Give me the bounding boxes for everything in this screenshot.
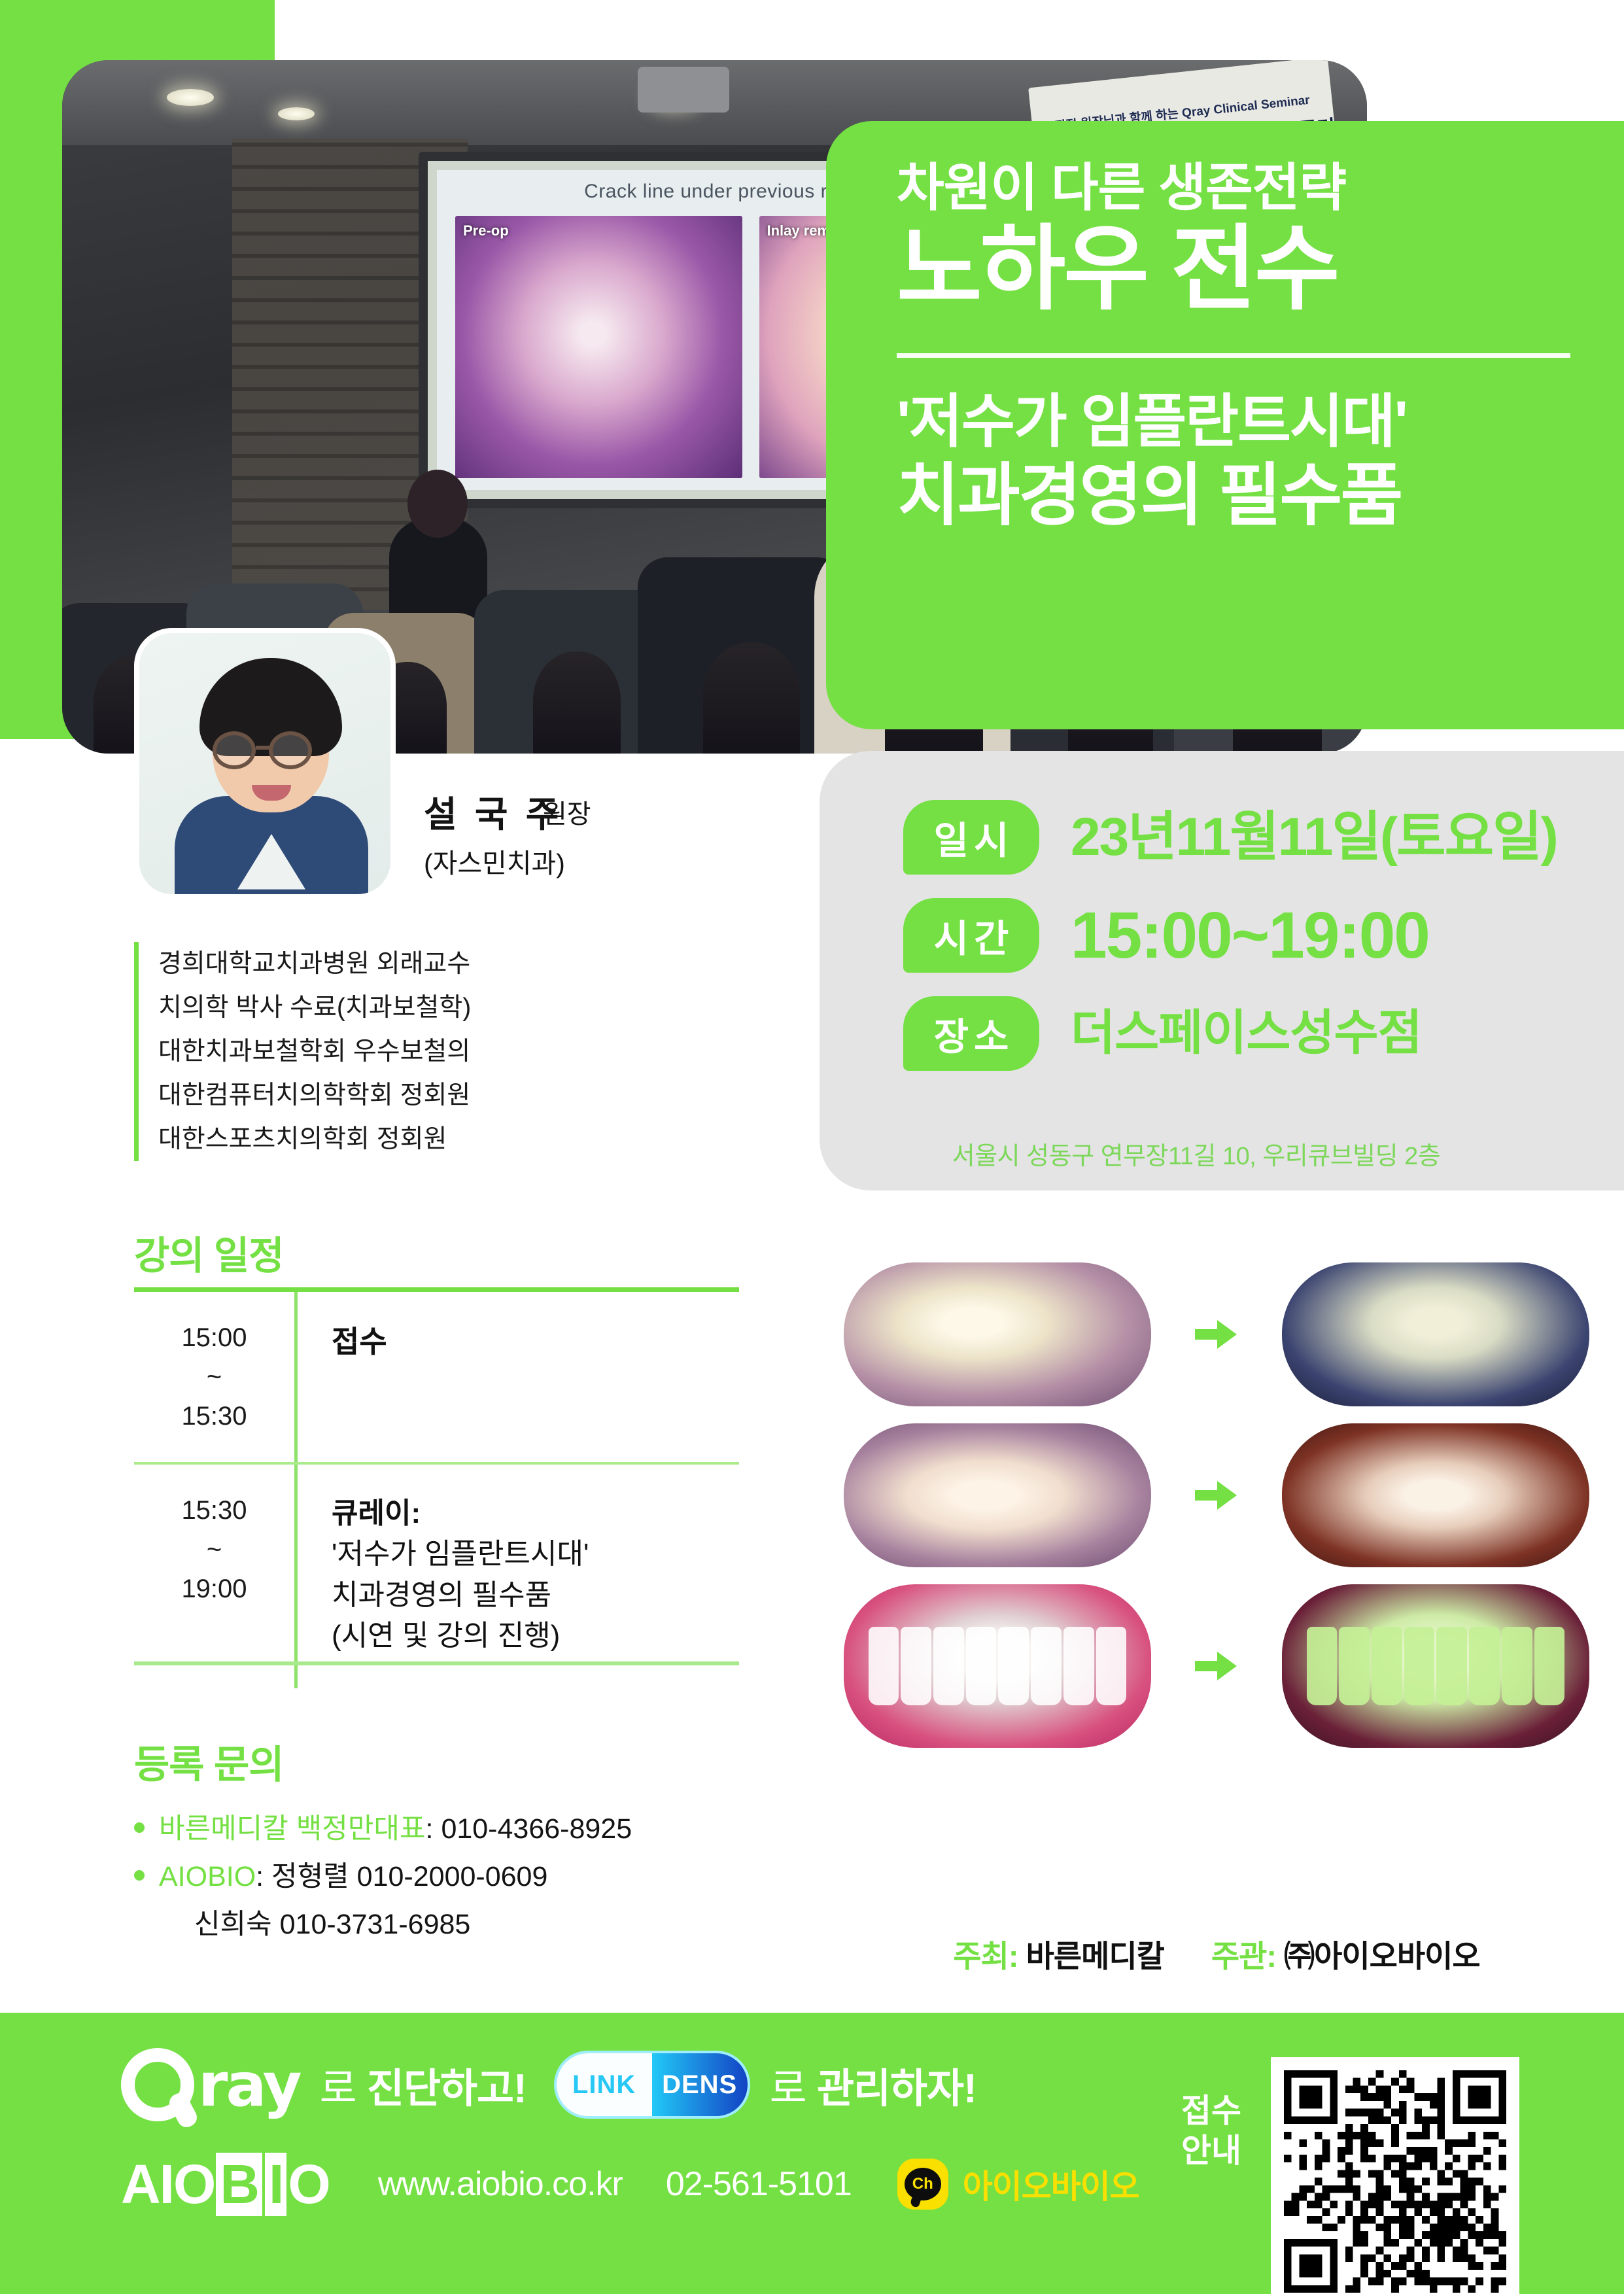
arrow-right-icon [1191, 1316, 1242, 1353]
table-row: 15:30 ~ 19:00 큐레이: '저수가 임플란트시대' 치과경영의 필수… [134, 1465, 739, 1688]
credential-item: 대한스포츠치의학회 정회원 [158, 1117, 710, 1161]
event-info-panel: 일시 23년11월11일(토요일) 시간 15:00~19:00 장소 더스페이… [820, 751, 1624, 1190]
info-chip-place: 장소 [903, 996, 1039, 1071]
clinical-image-after [1282, 1423, 1589, 1567]
clinical-row [844, 1262, 1589, 1406]
title-main: 노하우 전수 [897, 220, 1573, 319]
footer-tagline-row: ray 로 진단하고! LINK DENS 로 관리하자! [121, 2048, 976, 2121]
clinical-image-before [844, 1262, 1151, 1406]
time-separator: ~ [134, 1530, 294, 1569]
linkdens-link-text: LINK [557, 2053, 652, 2116]
schedule-top-rule [134, 1287, 739, 1292]
teeth-row [869, 1627, 1127, 1705]
schedule-bottom-rule [134, 1661, 739, 1665]
time-start: 15:00 [134, 1318, 294, 1357]
diagnose-prefix: 로 [320, 2066, 367, 2112]
manage-emphasis: 관리하자! [817, 2066, 976, 2112]
speaker-name: 설 국 주 [424, 785, 562, 837]
kakao-badge-icon: Ch [897, 2159, 948, 2210]
schedule-table: 15:00 ~ 15:30 접수 15:30 ~ 19:00 큐레이: '저수가… [134, 1287, 739, 1688]
manage-value: ㈜아이오바이오 [1284, 1939, 1479, 1973]
schedule-desc-line: '저수가 임플란트시대' [332, 1534, 589, 1574]
contact-value: : 정형렬 010-2000-0609 [256, 1853, 547, 1901]
clinical-image-after [1282, 1262, 1589, 1406]
poster-root: Crack line under previous restoration Pr… [0, 0, 1624, 2294]
qr-label: 접수 안내 [1181, 2091, 1241, 2171]
qray-wordmark: ray [198, 2050, 300, 2120]
speaker-credentials: 경희대학교치과병원 외래교수 치의학 박사 수료(치과보철학) 대한치과보철학회… [134, 942, 710, 1161]
contact-heading: 등록 문의 [134, 1733, 284, 1789]
schedule-desc-line: 치과경영의 필수품 [332, 1575, 589, 1616]
linkdens-logo: LINK DENS [554, 2051, 750, 2119]
credential-item: 치의학 박사 수료(치과보철학) [158, 986, 710, 1030]
schedule-desc-line: (시연 및 강의 진행) [332, 1616, 589, 1656]
credential-item: 경희대학교치과병원 외래교수 [158, 942, 710, 986]
diagnose-tagline: 로 진단하고! [320, 2055, 527, 2114]
website-url[interactable]: www.aiobio.co.kr [378, 2164, 623, 2204]
info-value-date: 23년11월11일(토요일) [1071, 800, 1557, 874]
title-kicker: 차원이 다른 생존전략 [897, 159, 1573, 217]
slide-label-preop: Pre-op [463, 222, 509, 239]
qr-code[interactable] [1271, 2057, 1519, 2294]
time-separator: ~ [134, 1357, 294, 1397]
table-row: 15:00 ~ 15:30 접수 [134, 1292, 739, 1465]
time-end: 19:00 [134, 1569, 294, 1608]
clinical-row [844, 1584, 1589, 1748]
contact-list: 바른메디칼 백정만대표 : 010-4366-8925 AIOBIO : 정형렬… [134, 1805, 788, 1949]
kakao-bubble-icon: Ch [905, 2168, 941, 2200]
aiobio-logo: AI O B I O [121, 2155, 330, 2213]
host-value: 바른메디칼 [1026, 1939, 1164, 1973]
schedule-desc-cell: 큐레이: '저수가 임플란트시대' 치과경영의 필수품 (시연 및 강의 진행) [298, 1465, 589, 1688]
phone-number[interactable]: 02-561-5101 [666, 2164, 852, 2204]
qray-logo: ray [121, 2048, 300, 2121]
glasses-icon [269, 731, 312, 769]
glasses-bridge [256, 746, 270, 750]
schedule-desc-line: 접수 [332, 1321, 387, 1363]
info-row-date: 일시 23년11월11일(토요일) [903, 800, 1624, 875]
kakao-ch-text: Ch [912, 2175, 933, 2193]
title-divider [897, 353, 1570, 358]
ceiling-light-icon [167, 89, 214, 106]
contact-label: 바른메디칼 백정만대표 [159, 1805, 426, 1853]
projector-icon [638, 67, 729, 113]
venue-address: 서울시 성동구 연무장11길 10, 우리큐브빌딩 2층 [820, 1136, 1573, 1172]
info-row-time: 시간 15:00~19:00 [903, 898, 1624, 973]
contact-value: 신희숙 010-3731-6985 [194, 1901, 470, 1949]
info-value-place: 더스페이스성수점 [1071, 996, 1422, 1069]
qray-q-icon [121, 2048, 194, 2121]
qr-label-line-2: 안내 [1181, 2131, 1241, 2171]
list-item: 신희숙 010-3731-6985 [194, 1901, 788, 1949]
glasses-icon [213, 731, 256, 769]
credential-item: 대한컴퓨터치의학학회 정회원 [158, 1073, 710, 1117]
info-chip-time: 시간 [903, 898, 1039, 973]
contact-label: AIOBIO [159, 1853, 256, 1901]
title-sub-2: 치과경영의 필수품 [897, 459, 1573, 533]
schedule-desc-cell: 접수 [298, 1292, 387, 1462]
list-item: 바른메디칼 백정만대표 : 010-4366-8925 [134, 1805, 788, 1853]
aiobio-o2: O [288, 2153, 329, 2216]
bullet-icon [134, 1870, 145, 1881]
info-value-time: 15:00~19:00 [1071, 898, 1429, 973]
list-item: AIOBIO : 정형렬 010-2000-0609 [134, 1853, 788, 1901]
teeth-row [1307, 1627, 1565, 1705]
clinical-image-before [844, 1423, 1151, 1567]
diagnose-emphasis: 진단하고! [367, 2066, 527, 2112]
bullet-icon [134, 1822, 145, 1833]
host-label: 주최: [953, 1939, 1018, 1973]
contact-value: : 010-4366-8925 [426, 1805, 632, 1853]
schedule-heading: 강의 일정 [134, 1225, 284, 1280]
info-row-place: 장소 더스페이스성수점 [903, 996, 1624, 1071]
title-panel: 차원이 다른 생존전략 노하우 전수 '저수가 임플란트시대' 치과경영의 필수… [826, 121, 1624, 729]
clinical-image-grid [844, 1262, 1589, 1765]
kakao-channel[interactable]: Ch 아이오바이오 [897, 2159, 1139, 2210]
time-end: 15:30 [134, 1397, 294, 1436]
organizer-line: 주최: 바른메디칼 주관: ㈜아이오바이오 [844, 1931, 1589, 1976]
ceiling-light-icon [278, 107, 315, 120]
manage-tagline: 로 관리하자! [770, 2055, 976, 2114]
slide-image-preop: Pre-op [455, 216, 742, 478]
credential-item: 대한치과보철학회 우수보철의 [158, 1030, 710, 1073]
clinical-row [844, 1423, 1589, 1567]
time-start: 15:30 [134, 1491, 294, 1530]
kakao-channel-label: 아이오바이오 [963, 2161, 1139, 2208]
clinical-image-before [844, 1584, 1151, 1748]
aiobio-b: B [216, 2153, 262, 2216]
speaker-clinic: (자스민치과) [424, 841, 565, 880]
arrow-right-icon [1191, 1477, 1242, 1514]
footer-company-row: AI O B I O www.aiobio.co.kr 02-561-5101 … [121, 2155, 1139, 2213]
schedule-time-cell: 15:00 ~ 15:30 [134, 1292, 298, 1462]
info-chip-date: 일시 [903, 800, 1039, 875]
aiobio-o1: O [173, 2153, 215, 2216]
manage-prefix: 로 [770, 2066, 817, 2112]
clinical-image-after [1282, 1584, 1589, 1748]
qr-label-line-1: 접수 [1181, 2091, 1241, 2131]
qr-canvas [1284, 2070, 1506, 2293]
aiobio-ai: AI [121, 2153, 173, 2216]
footer-band: ray 로 진단하고! LINK DENS 로 관리하자! AI O B I O… [0, 2013, 1624, 2294]
speaker-portrait [134, 628, 396, 899]
audience-head [533, 652, 621, 754]
manage-label: 주관: [1211, 1939, 1276, 1973]
schedule-time-cell: 15:30 ~ 19:00 [134, 1465, 298, 1688]
schedule-desc-line: 큐레이: [332, 1493, 589, 1534]
audience-head [703, 642, 800, 754]
arrow-right-icon [1191, 1648, 1242, 1684]
linkdens-dens-text: DENS [652, 2053, 748, 2116]
title-sub-1: '저수가 임플란트시대' [897, 389, 1573, 455]
aiobio-i: I [265, 2153, 286, 2216]
speaker-role: 원장 [543, 793, 591, 831]
